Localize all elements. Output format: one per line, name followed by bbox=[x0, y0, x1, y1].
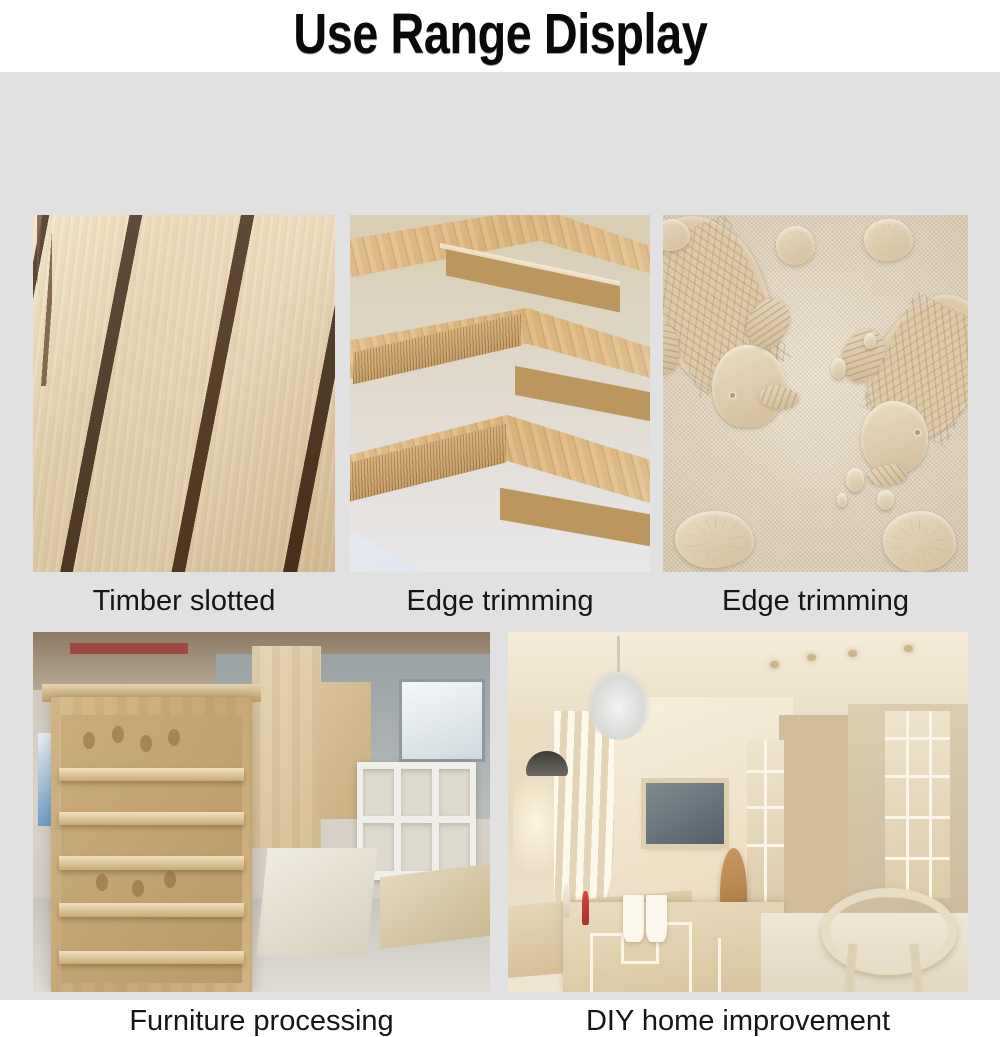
paper-cup bbox=[646, 895, 667, 942]
pendant-stem bbox=[617, 636, 620, 672]
bookshelf-shelf-board bbox=[59, 768, 244, 782]
bookshelf-back-panel bbox=[61, 715, 242, 984]
decor-bottle-red bbox=[582, 891, 589, 925]
lotus-leaf-bottom-right bbox=[883, 511, 956, 572]
gallery-item-caption: Edge trimming bbox=[350, 587, 650, 616]
slotted-timber-board-photo bbox=[33, 215, 335, 572]
gallery-item-caption: Furniture processing bbox=[33, 1007, 490, 1036]
wood-worktable bbox=[380, 862, 490, 949]
blockboard-core-middle bbox=[353, 313, 521, 384]
gallery-item-edge-trimming-panels[interactable]: Edge trimming bbox=[350, 215, 650, 572]
stacked-plywood-panels-photo bbox=[350, 215, 650, 572]
lotus-leaf-top-right bbox=[864, 219, 913, 262]
bar-counter bbox=[563, 902, 784, 992]
workshop-window bbox=[399, 679, 486, 762]
lotus-leaf-top-center bbox=[776, 226, 816, 265]
gallery-panel: Timber slotted bbox=[0, 72, 1000, 1000]
page-title: Use Range Display bbox=[293, 6, 707, 63]
wishbone-chair bbox=[821, 877, 959, 992]
pine-bookshelf bbox=[51, 697, 252, 992]
bookshelf-shelf-board bbox=[59, 812, 244, 826]
carved-bubble-5 bbox=[877, 490, 894, 510]
pine-cabinet-back bbox=[252, 646, 321, 848]
use-range-display-page: Use Range Display Timber slotted bbox=[0, 0, 1000, 1000]
carved-bubble-3 bbox=[846, 468, 864, 491]
koi-fish-relief-carving-photo bbox=[663, 215, 968, 572]
page-header: Use Range Display bbox=[0, 0, 1000, 72]
bookshelf-shelf-board bbox=[59, 951, 244, 965]
photo-shading-overlay bbox=[33, 215, 335, 572]
gallery-item-diy-home-improvement[interactable]: DIY home improvement bbox=[508, 632, 968, 992]
gallery-item-timber-slotted[interactable]: Timber slotted bbox=[33, 215, 335, 572]
bookshelf-shelf-board bbox=[59, 903, 244, 917]
gallery-item-caption: DIY home improvement bbox=[508, 1007, 968, 1036]
interior-living-room-photo bbox=[508, 632, 968, 992]
decor-bottle bbox=[563, 884, 570, 918]
ceiling-spotlight bbox=[807, 654, 816, 661]
workshop-red-beam bbox=[70, 643, 189, 654]
ceiling-spotlight bbox=[904, 645, 913, 652]
gallery-item-furniture-processing[interactable]: Furniture processing bbox=[33, 632, 490, 992]
carved-bubble-1 bbox=[831, 358, 846, 379]
workbench-white bbox=[256, 848, 377, 956]
artichoke-pendant-lamp bbox=[586, 668, 650, 740]
bookshelf-shelf-board bbox=[59, 856, 244, 870]
paper-cup bbox=[623, 895, 644, 942]
lattice-screen-right bbox=[885, 711, 949, 898]
lattice-screen-center bbox=[747, 740, 784, 906]
koi-fish-right bbox=[852, 286, 968, 514]
gallery-item-caption: Timber slotted bbox=[33, 587, 335, 616]
plywood-edge-middle bbox=[515, 366, 650, 421]
wall-mounted-tv bbox=[646, 783, 724, 844]
ceiling-spotlight bbox=[770, 661, 779, 668]
gallery-item-edge-trimming-carving[interactable]: Edge trimming bbox=[663, 215, 968, 572]
photo-background-corner bbox=[350, 501, 488, 572]
chair-backrest bbox=[821, 888, 958, 975]
gallery-item-caption: Edge trimming bbox=[663, 587, 968, 616]
furniture-workshop-photo bbox=[33, 632, 490, 992]
